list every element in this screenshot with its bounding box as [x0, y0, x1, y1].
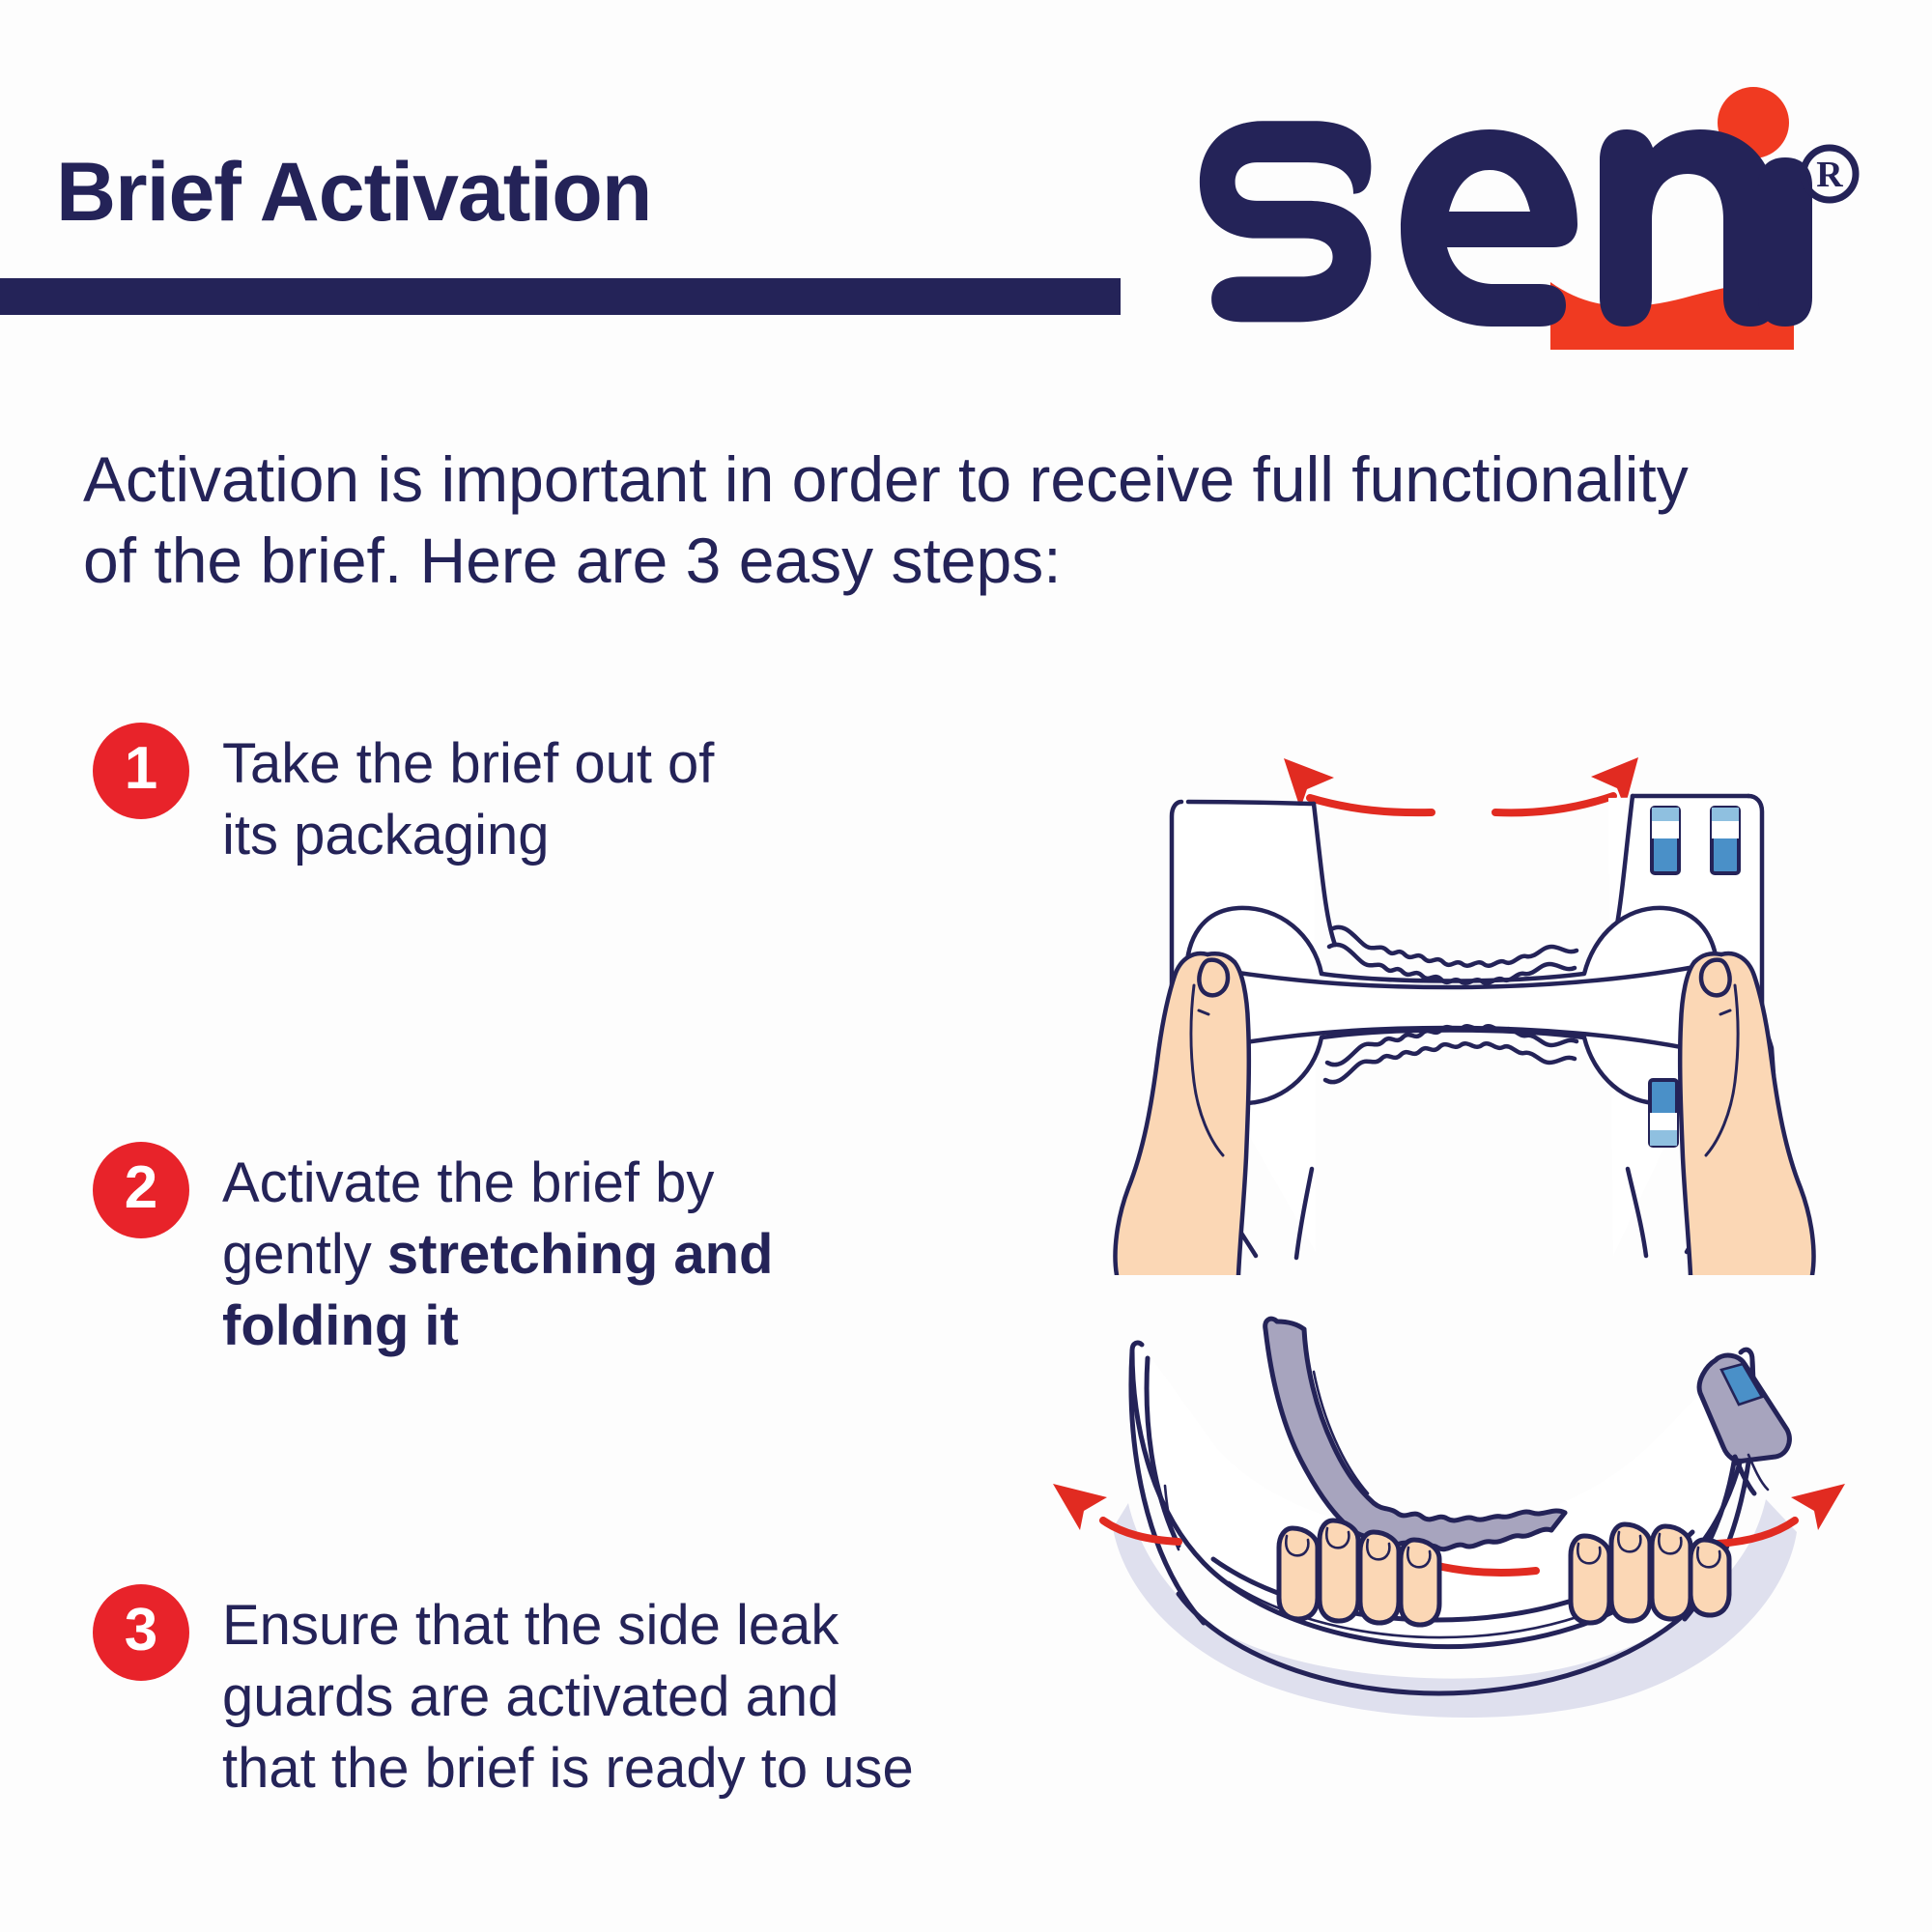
bottom-leak-guard — [1325, 1043, 1575, 1082]
brief-stretching-illustration: .ln { fill:none; stroke:#242358; stroke-… — [1072, 715, 1835, 1275]
registered-trademark-icon: R — [1804, 148, 1856, 200]
step-item-3: 3 Ensure that the side leakguards are ac… — [93, 1584, 1010, 1805]
step-number-badge-1: 1 — [93, 723, 189, 819]
step-text-1: Take the brief out ofits packaging — [222, 723, 714, 871]
title-underline-rule — [0, 278, 1121, 315]
brief-folding-illustration: .l2 { fill:none; stroke:#242358; stroke-… — [1024, 1304, 1874, 1768]
page-title: Brief Activation — [56, 145, 651, 241]
step-number-badge-3: 3 — [93, 1584, 189, 1681]
step-item-2: 2 Activate the brief bygently stretching… — [93, 1142, 885, 1363]
right-hand-icon — [1680, 953, 1813, 1275]
infographic-page: Brief Activation R — [0, 0, 1932, 1932]
top-leak-guard — [1331, 927, 1577, 966]
intro-paragraph: Activation is important in order to rece… — [83, 440, 1725, 602]
step-number-badge-2: 2 — [93, 1142, 189, 1238]
left-hand-icon — [1116, 953, 1249, 1275]
right-hand-fingers-icon — [1571, 1524, 1729, 1623]
step-text-3: Ensure that the side leakguards are acti… — [222, 1584, 914, 1805]
step-item-1: 1 Take the brief out ofits packaging — [93, 723, 846, 871]
step-text-2: Activate the brief bygently stretching a… — [222, 1142, 774, 1363]
seni-logo: R — [1190, 70, 1866, 350]
brief-core — [1186, 908, 1718, 1103]
svg-text:R: R — [1816, 155, 1843, 195]
